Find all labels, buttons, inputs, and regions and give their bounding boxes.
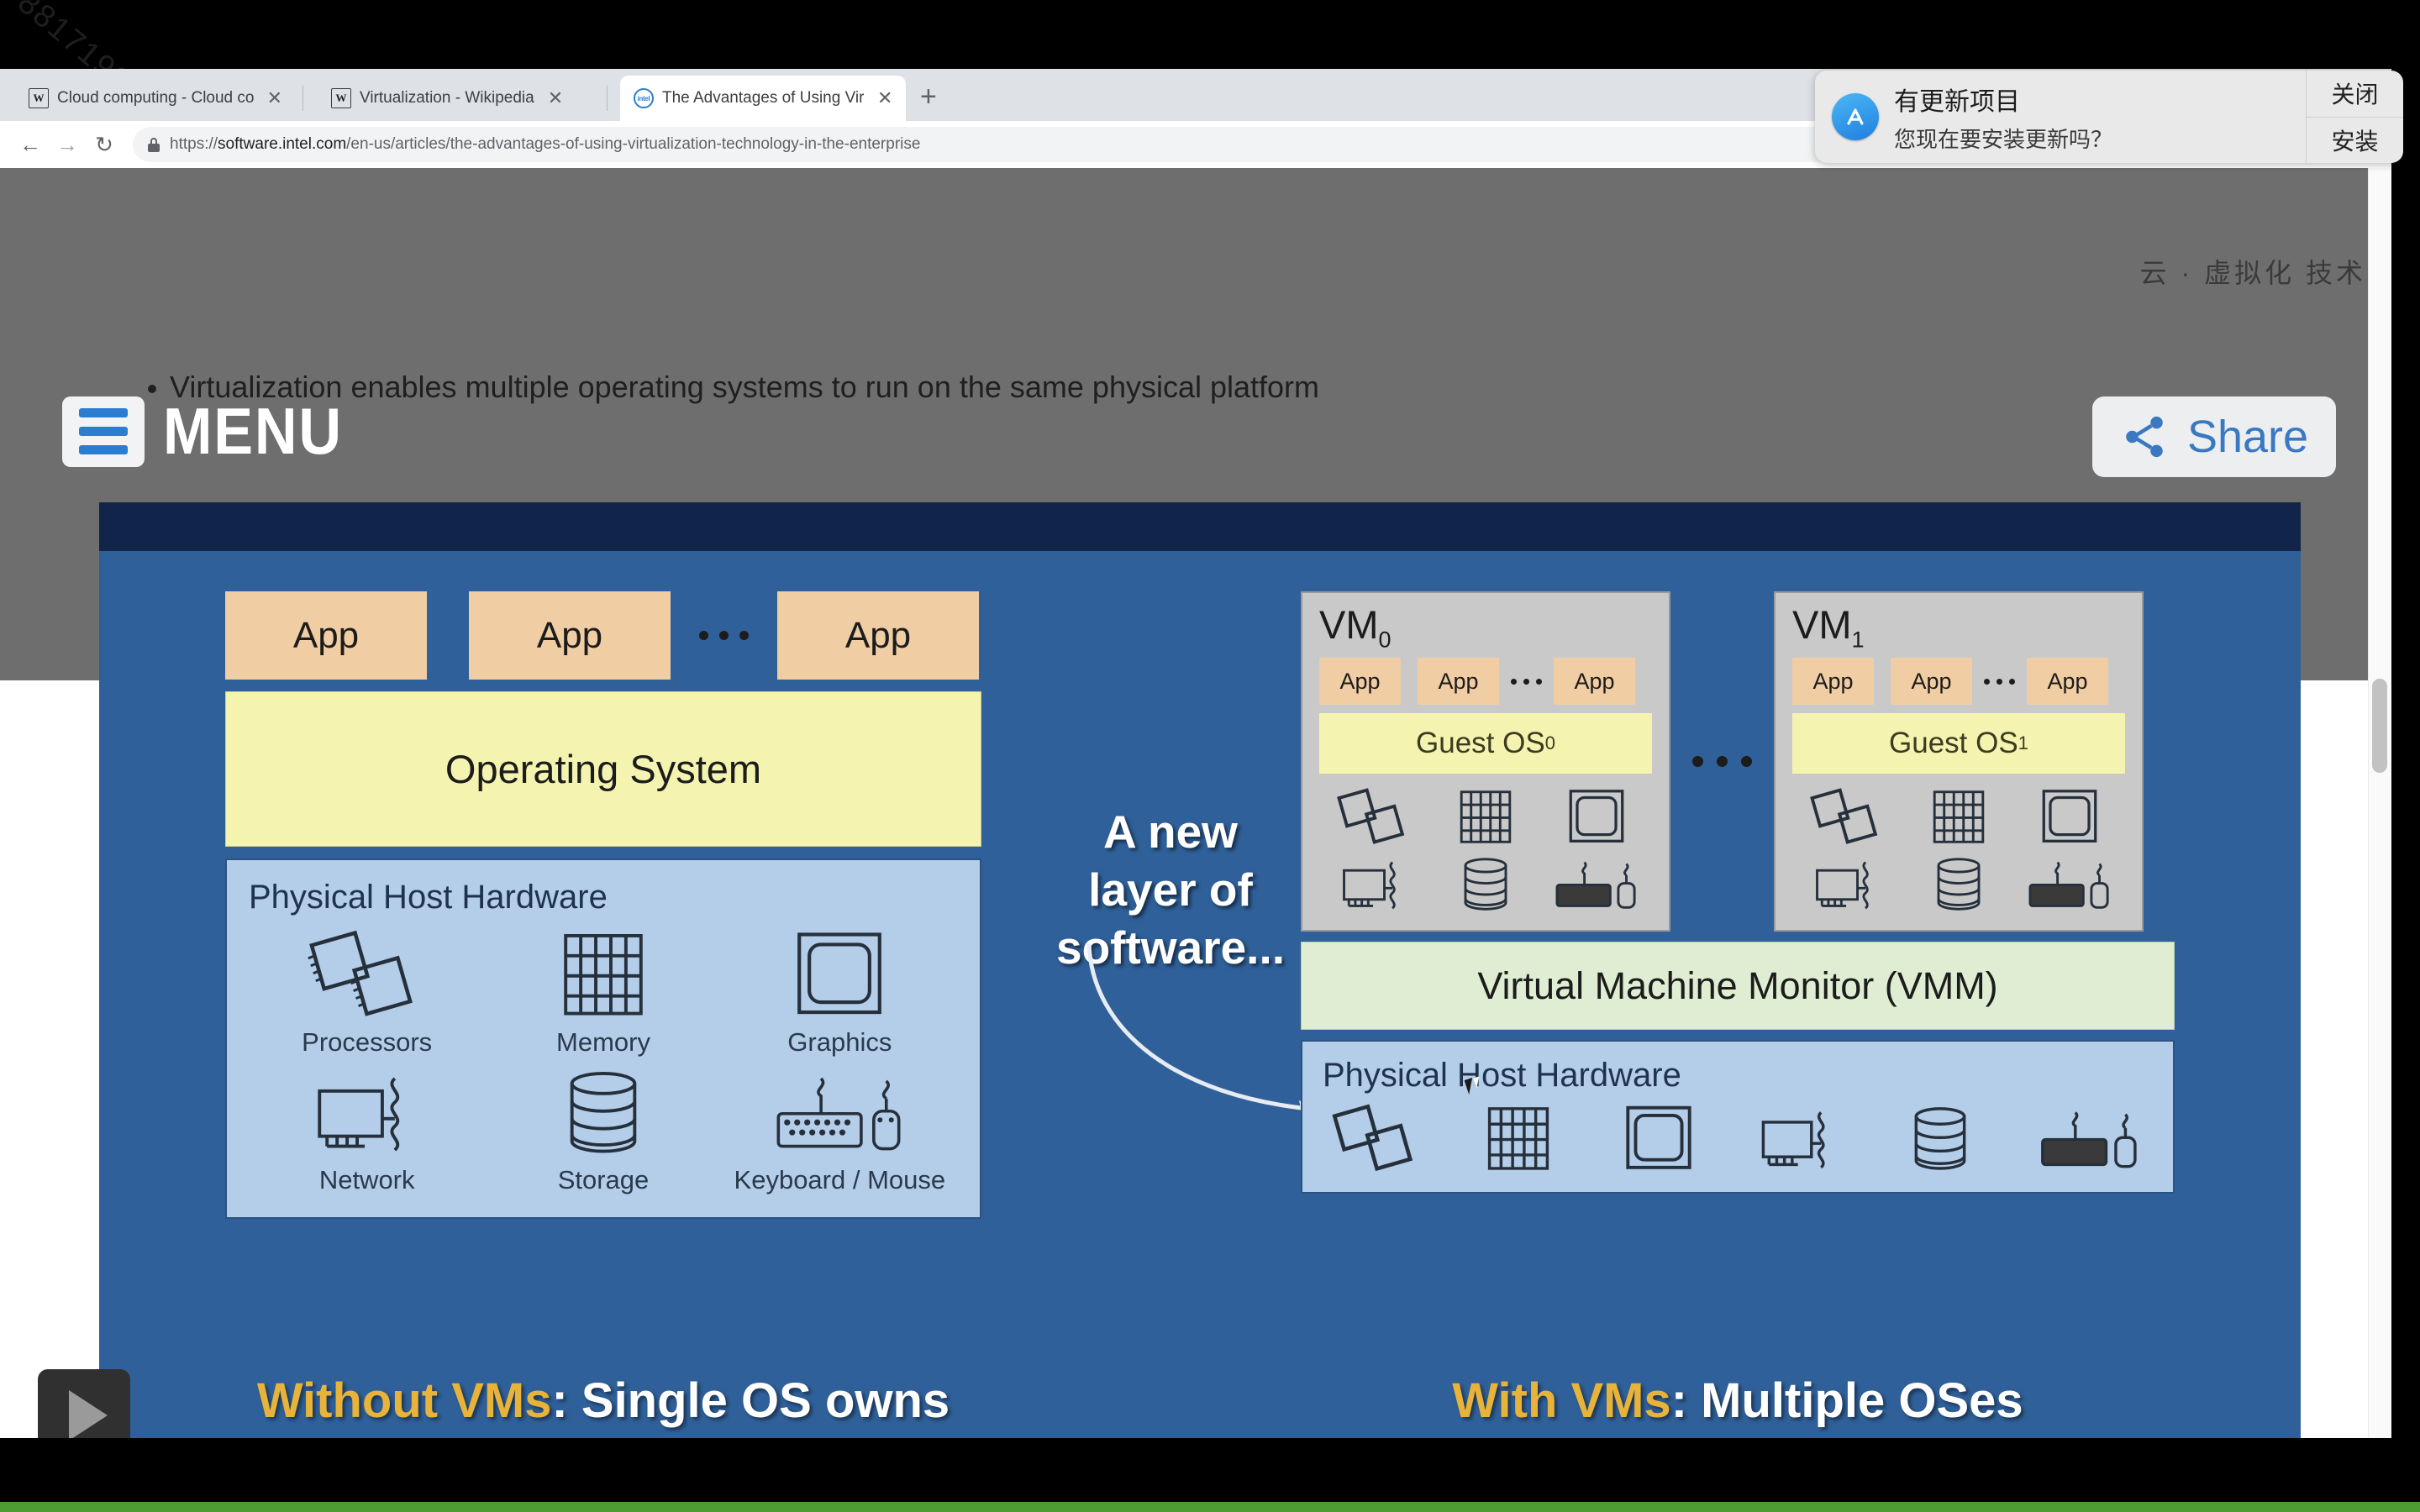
caption-line-1: Without VMs: Single OS owns — [225, 1370, 981, 1432]
app-box: App — [225, 591, 427, 680]
vm-label: VM1 — [1792, 605, 2125, 651]
hardware-label: Storage — [558, 1165, 650, 1195]
processor-icon — [304, 928, 430, 1022]
storage-icon — [1886, 1103, 1995, 1175]
vmm-box: Virtual Machine Monitor (VMM) — [1301, 942, 2175, 1030]
app-box: App — [1554, 658, 1635, 705]
hardware-item: Network — [249, 1066, 485, 1195]
ellipsis-dots — [699, 631, 749, 640]
hardware-item: Processors — [249, 928, 485, 1058]
processor-icon — [1328, 787, 1421, 848]
memory-icon — [1912, 787, 2005, 848]
bottom-green-bar — [0, 1502, 2420, 1512]
hardware-label: Processors — [302, 1027, 432, 1058]
storage-icon — [540, 1066, 666, 1160]
page-hidden-text: 云 · 虚拟化 技术 — [2140, 252, 2366, 291]
url-text: https://software.intel.com/en-us/article… — [170, 135, 920, 154]
graphics-icon — [776, 928, 902, 1022]
slide-header-band — [99, 502, 2301, 551]
keyboard-mouse-icon — [771, 1066, 909, 1160]
intel-icon: intel — [634, 88, 654, 108]
tab-close-icon[interactable]: ✕ — [548, 89, 563, 108]
notification-content: 有更新项目 您现在要安装更新吗？ — [1815, 71, 2306, 163]
keyboard-mouse-icon — [2027, 1103, 2153, 1175]
notification-install-button[interactable]: 安装 — [2307, 117, 2403, 164]
menu-overlay[interactable]: MENU — [62, 393, 363, 470]
caption-with-vms: With VMs: Multiple OSes share hardware r… — [1301, 1370, 2175, 1438]
memory-icon — [1464, 1103, 1573, 1175]
tab-close-icon[interactable]: ✕ — [267, 89, 282, 108]
ellipsis-dots — [1511, 679, 1542, 685]
caption-line-1: With VMs: Multiple OSes — [1301, 1370, 2175, 1432]
vm-box-0: VM0 App App App Gues — [1301, 591, 1670, 932]
screen: 8817198 W Cloud computing - Cloud comp ✕… — [0, 0, 2420, 1512]
forward-icon[interactable]: → — [49, 126, 86, 163]
share-button[interactable]: Share — [2092, 396, 2336, 477]
network-icon — [304, 1066, 430, 1160]
caption-line-2: all hardware resources — [225, 1432, 981, 1438]
vm-hardware-icons — [1319, 787, 1652, 915]
vm-ellipsis-dots — [1670, 756, 1774, 767]
network-icon — [1745, 1103, 1854, 1175]
network-icon — [1328, 854, 1421, 915]
tab-title: The Advantages of Using Virtu — [662, 89, 864, 108]
notification-text: 有更新项目 您现在要安装更新吗？ — [1894, 81, 2112, 154]
app-box: App — [777, 591, 979, 680]
vm-label: VM0 — [1319, 605, 1652, 651]
caption-line-2: share hardware resources — [1301, 1432, 2175, 1438]
storage-icon — [1439, 854, 1532, 915]
tab-title: Cloud computing - Cloud comp — [57, 89, 254, 108]
wikipedia-icon: W — [29, 88, 49, 108]
browser-window: W Cloud computing - Cloud comp ✕ W Virtu… — [0, 69, 2391, 1438]
app-row: App App App — [225, 591, 981, 680]
notification-body: 您现在要安装更新吗？ — [1894, 123, 2112, 154]
tab-separator — [302, 86, 303, 111]
notification-actions: 关闭 安装 — [2306, 71, 2403, 163]
app-box: App — [469, 591, 671, 680]
physical-host-hardware-box: Physical Host Hardware — [1301, 1040, 2175, 1194]
app-box: App — [1891, 658, 1972, 705]
graphics-icon — [1550, 787, 1643, 848]
hardware-label: Network — [319, 1165, 415, 1195]
network-icon — [1802, 854, 1894, 915]
notification-close-button[interactable]: 关闭 — [2307, 71, 2403, 117]
keyboard-mouse-icon — [2018, 854, 2122, 915]
tab-close-icon[interactable]: ✕ — [877, 89, 892, 108]
tab-cloud-computing[interactable]: W Cloud computing - Cloud comp ✕ — [15, 76, 292, 121]
share-icon — [2120, 412, 2169, 461]
vm-app-row: App App App — [1319, 658, 1652, 705]
lock-icon — [148, 138, 160, 152]
share-label: Share — [2187, 411, 2308, 463]
processor-icon — [1802, 787, 1894, 848]
page-scrollbar-thumb[interactable] — [2372, 679, 2387, 773]
page-scrollbar-track[interactable] — [2368, 168, 2391, 1438]
vm-app-row: App App App — [1792, 658, 2125, 705]
notification-title: 有更新项目 — [1894, 81, 2112, 118]
bullet-dot — [148, 385, 156, 393]
vm-box-1: VM1 App App App Gues — [1774, 591, 2144, 932]
memory-icon — [1439, 787, 1532, 848]
app-box: App — [1792, 658, 1874, 705]
processor-icon — [1323, 1103, 1432, 1175]
bottom-black-bar — [0, 1438, 2420, 1502]
system-notification[interactable]: 有更新项目 您现在要安装更新吗？ 关闭 安装 — [1815, 71, 2403, 163]
hardware-label: Graphics — [787, 1027, 892, 1058]
tab-title: Virtualization - Wikipedia — [360, 89, 534, 108]
guest-os-box: Guest OS0 — [1319, 713, 1652, 774]
keyboard-mouse-icon — [1544, 854, 1649, 915]
play-icon — [69, 1390, 108, 1441]
wikipedia-icon: W — [331, 88, 351, 108]
hardware-title: Physical Host Hardware — [1323, 1057, 2153, 1095]
annotation-line-1: A new — [1044, 803, 1297, 861]
new-tab-button[interactable]: + — [920, 84, 937, 109]
hardware-item: Graphics — [722, 928, 958, 1058]
app-box: App — [1418, 658, 1499, 705]
hardware-icon-row — [1323, 1103, 2153, 1175]
storage-icon — [1912, 854, 2005, 915]
operating-system-box: Operating System — [225, 691, 981, 847]
back-icon[interactable]: ← — [12, 126, 49, 163]
app-box: App — [2027, 658, 2108, 705]
reload-icon[interactable]: ↻ — [86, 126, 123, 163]
menu-label: MENU — [163, 393, 343, 470]
diagram-without-vms: App App App Operating System Physical Ho… — [225, 591, 981, 1219]
hamburger-icon[interactable] — [62, 396, 145, 467]
hardware-item: Storage — [485, 1066, 721, 1195]
caption-without-vms: Without VMs: Single OS owns all hardware… — [225, 1370, 981, 1438]
graphics-icon — [1604, 1103, 1713, 1175]
guest-os-box: Guest OS1 — [1792, 713, 2125, 774]
hardware-title: Physical Host Hardware — [249, 879, 958, 916]
tab-intel-advantages[interactable]: intel The Advantages of Using Virtu ✕ — [620, 76, 906, 121]
diagram-with-vms: VM0 App App App Gues — [1301, 591, 2175, 1194]
hardware-label: Keyboard / Mouse — [734, 1165, 946, 1195]
annotation-line-2: layer of — [1044, 861, 1297, 919]
hardware-label: Memory — [556, 1027, 650, 1058]
hardware-grid: Processors Memory — [249, 928, 958, 1195]
vm-hardware-icons — [1792, 787, 2125, 915]
app-store-icon — [1832, 93, 1879, 140]
slide-image: App App App Operating System Physical Ho… — [99, 502, 2301, 1438]
vm-row: VM0 App App App Gues — [1301, 591, 2175, 932]
hardware-item: Keyboard / Mouse — [722, 1066, 958, 1195]
memory-icon — [540, 928, 666, 1022]
tab-virtualization[interactable]: W Virtualization - Wikipedia ✕ — [318, 76, 595, 121]
hardware-item: Memory — [485, 928, 721, 1058]
graphics-icon — [2023, 787, 2116, 848]
ellipsis-dots — [1984, 679, 2015, 685]
tab-separator — [607, 86, 608, 111]
slide-body: App App App Operating System Physical Ho… — [99, 551, 2301, 1438]
physical-host-hardware-box: Physical Host Hardware — [225, 858, 981, 1219]
page-viewport: 云 · 虚拟化 技术 Virtualization enables multip… — [0, 168, 2391, 1438]
app-box: App — [1319, 658, 1401, 705]
